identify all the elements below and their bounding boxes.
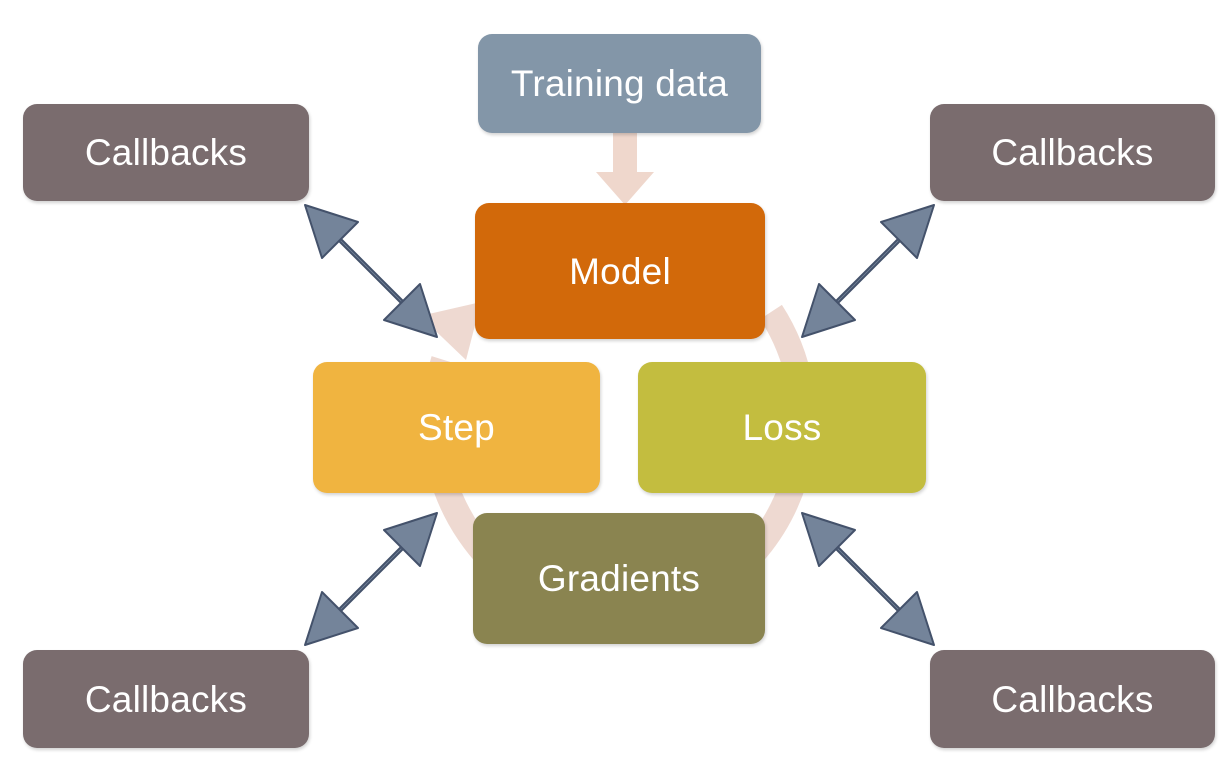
node-gradients[interactable]: Gradients: [473, 513, 765, 644]
node-loss-label: Loss: [743, 409, 822, 446]
node-callbacks-top-right[interactable]: Callbacks: [930, 104, 1215, 201]
diagram-canvas: Training data Model Step Loss Gradients …: [0, 0, 1229, 777]
node-callbacks-bottom-left[interactable]: Callbacks: [23, 650, 309, 748]
model-to-callbacks-top-right-arrow[interactable]: [802, 205, 934, 337]
model-to-callbacks-top-left-arrow[interactable]: [305, 205, 437, 337]
node-callbacks-bottom-right-label: Callbacks: [991, 681, 1153, 718]
gradients-to-callbacks-bottom-left-arrow[interactable]: [305, 513, 437, 645]
node-loss[interactable]: Loss: [638, 362, 926, 493]
training-data-to-model-arrow: [596, 131, 654, 205]
node-gradients-label: Gradients: [538, 560, 700, 597]
node-callbacks-top-left[interactable]: Callbacks: [23, 104, 309, 201]
node-step-label: Step: [418, 409, 495, 446]
node-callbacks-bottom-right[interactable]: Callbacks: [930, 650, 1215, 748]
node-callbacks-top-right-label: Callbacks: [991, 134, 1153, 171]
node-step[interactable]: Step: [313, 362, 600, 493]
node-training-data[interactable]: Training data: [478, 34, 761, 133]
node-training-data-label: Training data: [511, 65, 728, 102]
node-callbacks-bottom-left-label: Callbacks: [85, 681, 247, 718]
node-model-label: Model: [569, 253, 671, 290]
gradients-to-callbacks-bottom-right-arrow[interactable]: [802, 513, 934, 645]
node-callbacks-top-left-label: Callbacks: [85, 134, 247, 171]
node-model[interactable]: Model: [475, 203, 765, 339]
